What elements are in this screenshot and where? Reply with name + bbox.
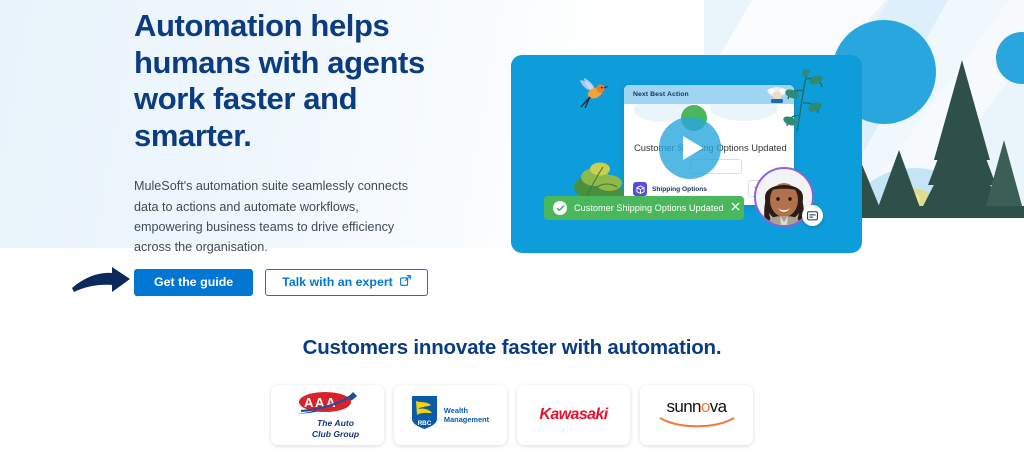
- talk-with-an-expert-button[interactable]: Talk with an expert: [265, 269, 428, 296]
- toast-message: Customer Shipping Options Updated: [574, 203, 724, 213]
- svg-text:A: A: [304, 395, 314, 410]
- rbc-shield-icon: RBC: [412, 396, 437, 434]
- next-best-action-header: Next Best Action: [624, 85, 794, 104]
- logo-card-rbc[interactable]: RBC Wealth Management: [394, 385, 507, 445]
- logo-card-kawasaki[interactable]: Kawasaki: [517, 385, 630, 445]
- play-triangle: [683, 136, 703, 160]
- hero-section: Automation helps humans with agents work…: [134, 8, 434, 258]
- plant-leaves-icon: [773, 69, 825, 144]
- video-hero-card[interactable]: Next Best Action Customer Shipping Optio…: [511, 55, 862, 253]
- close-x-icon[interactable]: [731, 202, 740, 214]
- talk-with-an-expert-label: Talk with an expert: [282, 275, 393, 289]
- rbc-line-2: Management: [444, 415, 489, 424]
- hero-headline: Automation helps humans with agents work…: [134, 8, 434, 154]
- customers-section: Customers innovate faster with automatio…: [0, 336, 1024, 445]
- customer-logo-row: AAA The Auto Club Group RBC: [0, 385, 1024, 445]
- shipping-options-label: Shipping Options: [652, 186, 707, 193]
- arrow-right-pointer-icon: [70, 266, 132, 298]
- check-circle-icon: [553, 201, 567, 215]
- shipping-options-chip[interactable]: Shipping Options: [633, 182, 707, 196]
- svg-text:RBC: RBC: [417, 420, 431, 427]
- svg-text:A: A: [326, 395, 336, 410]
- cta-row: Get the guide Talk with an expert: [70, 266, 428, 298]
- captions-icon[interactable]: [802, 205, 823, 226]
- aaa-line-2: Club Group: [312, 429, 359, 439]
- next-best-action-title: Next Best Action: [633, 91, 689, 98]
- hero-subcopy: MuleSoft's automation suite seamlessly c…: [134, 176, 426, 258]
- aaa-line-1: The Auto: [312, 418, 359, 428]
- rbc-line-1: Wealth: [444, 406, 489, 415]
- sunnova-wordmark: sunnova: [666, 398, 726, 415]
- sunnova-arc-icon: [659, 415, 735, 433]
- logo-card-sunnova[interactable]: sunnova: [640, 385, 753, 445]
- customers-title: Customers innovate faster with automatio…: [0, 336, 1024, 360]
- toast-notification: Customer Shipping Options Updated: [544, 196, 744, 220]
- get-the-guide-button[interactable]: Get the guide: [134, 269, 253, 296]
- external-link-icon: [400, 275, 411, 289]
- play-button-icon[interactable]: [659, 117, 721, 179]
- kawasaki-wordmark: Kawasaki: [539, 406, 607, 424]
- hummingbird-icon: [574, 77, 608, 114]
- logo-card-aaa[interactable]: AAA The Auto Club Group: [271, 385, 384, 445]
